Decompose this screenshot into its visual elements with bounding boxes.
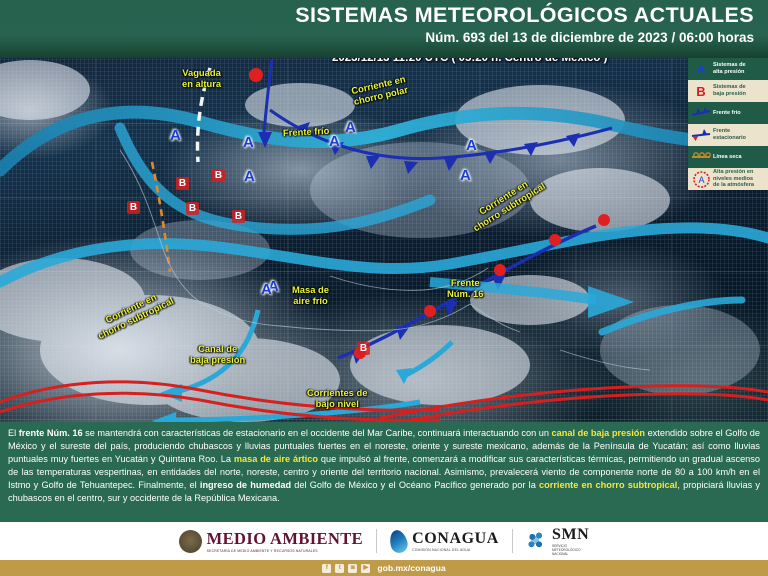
mexico-eagle-seal-icon	[179, 530, 202, 553]
high-pressure-symbol-8: A	[261, 282, 272, 297]
dry-line	[152, 162, 170, 272]
upper-trough-ribbon	[120, 128, 430, 229]
itcz-line-upper	[0, 382, 440, 411]
vaguada-en-altura-line	[198, 68, 211, 162]
legend-icon-wrap-1: B	[691, 82, 711, 100]
map-label-masa-de-aire-frio: Masa de aire frío	[292, 285, 329, 306]
medio-ambiente-name: MEDIO AMBIENTE	[207, 529, 363, 549]
legend-row-2: Frente frío	[688, 102, 768, 124]
legend-label-1: Sistemas de baja presión	[713, 84, 746, 98]
cold-front-barbs-1	[298, 122, 580, 174]
trough-arrow-head	[258, 132, 272, 148]
svg-text:A: A	[698, 175, 704, 185]
twitter-icon[interactable]: t	[335, 564, 344, 573]
legend-label-3: Frente estacionario	[713, 128, 746, 142]
monsoon-trough-line	[380, 386, 768, 418]
bulletin-segment-2: se mantendrá con características de esta…	[83, 428, 552, 438]
map-label-corrientes-de-bajo-nivel: Corrientes de bajo nivel	[307, 388, 367, 409]
bulletin-segment-9: corriente en chorro subtropical	[539, 480, 677, 490]
high-pressure-symbol-0: A	[170, 128, 181, 143]
map-overlay-graphics	[0, 50, 768, 422]
map-graticule-major	[0, 50, 768, 422]
footer-url[interactable]: gob.mx/conagua	[377, 563, 445, 573]
map-label-canal-de-baja-presion: Canal de baja presión	[190, 344, 245, 365]
map-label-vaguada-en-altura: Vaguada en altura	[182, 68, 221, 89]
map-graticule	[0, 50, 768, 422]
front-16-line	[338, 226, 596, 358]
legend-icon-wrap-5: A	[691, 170, 711, 188]
dry-line-icon	[691, 151, 711, 163]
facebook-icon[interactable]: f	[322, 564, 331, 573]
high-pressure-symbol-6: A	[466, 138, 477, 153]
smn-emblem-icon	[526, 530, 547, 553]
conagua-name: CONAGUA	[412, 530, 499, 548]
bulletin-text: El frente Núm. 16 se mantendrá con carac…	[0, 422, 768, 522]
legend-label-2: Frente frío	[713, 110, 741, 117]
legend-row-4: Línea seca	[688, 146, 768, 168]
high-pressure-symbol-4: A	[345, 120, 356, 135]
bulletin-segment-7: ingreso de humedad	[200, 480, 291, 490]
mid-level-flow	[430, 282, 596, 300]
smn-name: SMN	[552, 526, 589, 544]
secondary-jet-arc	[602, 300, 742, 332]
low-pressure-symbol-13: B	[232, 210, 245, 223]
smn-sub: SERVICIO METEOROLÓGICO NACIONAL	[552, 544, 589, 556]
map-label-corriente-chorro-subtropical-este: Corriente en chorro subtropical	[466, 172, 547, 234]
polar-jet-stream	[0, 112, 768, 170]
bulletin-segment-0: El	[8, 428, 19, 438]
low-pressure-symbol-14: B	[357, 342, 370, 355]
high-pressure-symbol-2: A	[329, 134, 340, 149]
map-label-corriente-chorro-polar: Corriente en chorro polar	[350, 74, 409, 107]
medio-ambiente-sub: SECRETARÍA DE MEDIO AMBIENTE Y RECURSOS …	[207, 549, 363, 553]
page-title: SISTEMAS METEOROLÓGICOS ACTUALES	[295, 3, 754, 28]
bulletin-segment-8: del Golfo de México y el Océano Pacífico…	[291, 480, 539, 490]
cold-front-line-1	[270, 110, 612, 159]
legend-label-4: Línea seca	[713, 154, 742, 161]
low-pressure-symbol-9: B	[127, 201, 140, 214]
smn-logo: SMN SERVICIO METEOROLÓGICO NACIONAL	[513, 526, 602, 556]
upper-trough-axis	[264, 60, 272, 132]
conagua-sub: COMISIÓN NACIONAL DEL AGUA	[412, 548, 499, 552]
map-legend: ASistemas de alta presiónBSistemas de ba…	[688, 58, 768, 190]
bulletin-segment-1: frente Núm. 16	[19, 428, 83, 438]
medio-ambiente-logo: MEDIO AMBIENTE SECRETARÍA DE MEDIO AMBIE…	[166, 529, 376, 553]
legend-icon-wrap-3	[691, 126, 711, 144]
map-label-frente-num-16: Frente Núm. 16	[447, 278, 483, 299]
legend-icon-wrap-2	[691, 104, 711, 122]
legend-row-5: AAlta presión en niveles medios de la at…	[688, 168, 768, 190]
legend-icon-wrap-0: A	[691, 60, 711, 78]
bulletin-segment-5: masa de aire ártico	[234, 454, 318, 464]
monsoon-trough-line-2	[380, 394, 768, 422]
cold-front-icon	[691, 107, 711, 119]
low-level-arrow-1	[176, 310, 258, 392]
legend-row-0: ASistemas de alta presión	[688, 58, 768, 80]
map-label-corriente-chorro-subtropical-oeste: Corriente en chorro subtropical	[92, 286, 176, 341]
legend-label-5: Alta presión en niveles medios de la atm…	[713, 169, 754, 190]
low-level-arrow-2	[172, 402, 420, 420]
youtube-icon[interactable]: ▶	[361, 564, 370, 573]
itcz-line-lower	[0, 393, 440, 420]
front-16-barbs	[352, 274, 506, 364]
low-pressure-symbol-12: B	[212, 169, 225, 182]
footer-social-bar: f t ◙ ▶ gob.mx/conagua	[0, 560, 768, 576]
legend-row-1: BSistemas de baja presión	[688, 80, 768, 102]
legend-label-0: Sistemas de alta presión	[713, 62, 746, 76]
low-center-marker	[249, 68, 263, 82]
instagram-icon[interactable]: ◙	[348, 564, 357, 573]
legend-icon-wrap-4	[691, 148, 711, 166]
low-level-arrow-3	[404, 342, 452, 376]
header-bar: SISTEMAS METEOROLÓGICOS ACTUALES Núm. 69…	[0, 0, 768, 58]
high-pressure-symbol-3: A	[244, 169, 255, 184]
high-pressure-A-icon: A	[696, 62, 705, 77]
low-pressure-symbol-11: B	[186, 202, 199, 215]
low-pressure-B-icon: B	[696, 84, 705, 99]
subtropical-jet-stream	[0, 228, 768, 282]
page-subtitle: Núm. 693 del 13 de diciembre de 2023 / 0…	[425, 30, 754, 45]
conagua-logo: CONAGUA COMISIÓN NACIONAL DEL AGUA	[377, 530, 512, 553]
water-drop-icon	[388, 528, 410, 554]
high-pressure-symbol-1: A	[243, 135, 254, 150]
coastline-outlines	[120, 150, 650, 370]
mid-level-high-pressure-icon: A	[693, 171, 710, 188]
high-pressure-symbol-5: A	[460, 168, 471, 183]
footer-logos: MEDIO AMBIENTE SECRETARÍA DE MEDIO AMBIE…	[0, 522, 768, 560]
legend-row-3: Frente estacionario	[688, 124, 768, 146]
stationary-front-icon	[691, 129, 711, 141]
bulletin-segment-3: canal de baja presión	[552, 428, 645, 438]
weather-bulletin-page: SISTEMAS METEOROLÓGICOS ACTUALES Núm. 69…	[0, 0, 768, 576]
map-label-frente-frio: Frente frío	[283, 126, 330, 139]
satellite-map: 2023/12/13 11:20 UTC ( 05:20 h. Centro d…	[0, 50, 768, 422]
front-16-warm-bumps	[354, 214, 610, 359]
low-pressure-symbol-10: B	[176, 177, 189, 190]
